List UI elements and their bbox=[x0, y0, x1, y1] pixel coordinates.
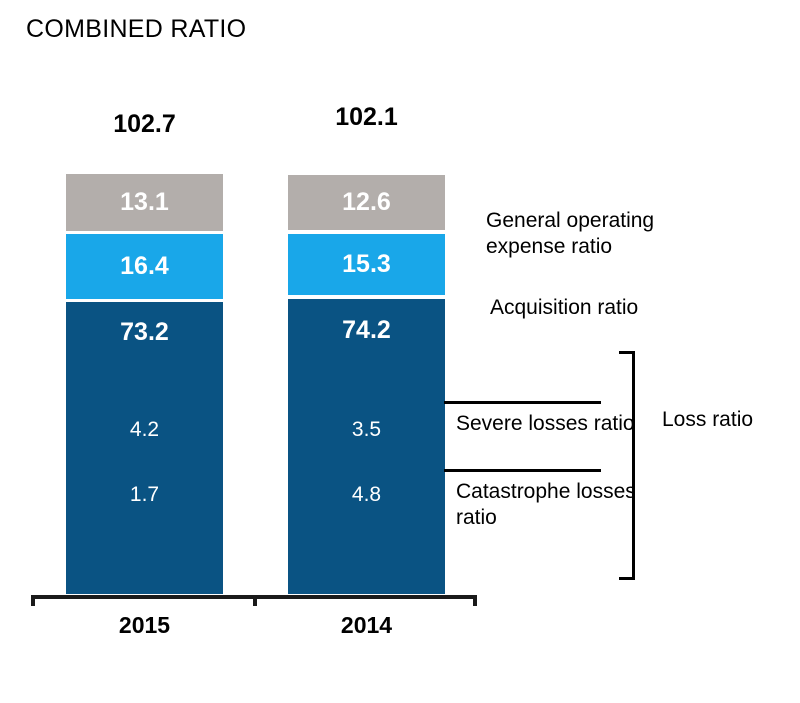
legend-label-loss-ratio: Loss ratio bbox=[662, 407, 782, 433]
page-title: COMBINED RATIO bbox=[26, 15, 246, 44]
sub-value-severe-losses-2014: 3.5 bbox=[288, 418, 445, 442]
total-label-2014: 102.1 bbox=[288, 103, 445, 132]
chart-canvas: COMBINED RATIO 102.7 102.1 13.1 16.4 73.… bbox=[0, 0, 800, 703]
axis-tick-right bbox=[473, 595, 477, 606]
loss-ratio-brace-vertical bbox=[632, 351, 635, 580]
segment-general-operating-2015[interactable]: 13.1 bbox=[66, 174, 223, 231]
legend-label-severe-losses-ratio: Severe losses ratio bbox=[456, 411, 636, 437]
segment-value-loss-2014: 74.2 bbox=[288, 316, 445, 345]
legend-label-acquisition-ratio: Acquisition ratio bbox=[490, 295, 720, 321]
legend-label-catastrophe-losses-ratio: Catastrophe losses ratio bbox=[456, 479, 636, 531]
legend-label-general-operating-expense-ratio: General operating expense ratio bbox=[486, 208, 716, 260]
leader-line-severe-losses bbox=[444, 401, 601, 404]
segment-loss-2014[interactable]: 74.2 3.5 4.8 bbox=[288, 299, 445, 594]
axis-tick-left bbox=[31, 595, 35, 606]
segment-value-loss-2015: 73.2 bbox=[66, 318, 223, 347]
total-label-2015: 102.7 bbox=[66, 110, 223, 139]
segment-value-general-operating-2015: 13.1 bbox=[66, 188, 223, 217]
segment-loss-2015[interactable]: 73.2 4.2 1.7 bbox=[66, 302, 223, 594]
x-axis-label-2015: 2015 bbox=[66, 612, 223, 639]
sub-value-catastrophe-losses-2015: 1.7 bbox=[66, 483, 223, 507]
leader-line-catastrophe-losses bbox=[444, 469, 601, 472]
loss-ratio-brace-arm-top bbox=[619, 351, 635, 354]
segment-general-operating-2014[interactable]: 12.6 bbox=[288, 175, 445, 230]
segment-value-acquisition-2015: 16.4 bbox=[66, 252, 223, 281]
segment-acquisition-2015[interactable]: 16.4 bbox=[66, 234, 223, 299]
loss-ratio-brace-arm-bottom bbox=[619, 577, 635, 580]
sub-value-catastrophe-losses-2014: 4.8 bbox=[288, 483, 445, 507]
x-axis-label-2014: 2014 bbox=[288, 612, 445, 639]
axis-tick-middle bbox=[253, 595, 257, 606]
segment-acquisition-2014[interactable]: 15.3 bbox=[288, 234, 445, 295]
segment-value-acquisition-2014: 15.3 bbox=[288, 250, 445, 279]
sub-value-severe-losses-2015: 4.2 bbox=[66, 418, 223, 442]
segment-value-general-operating-2014: 12.6 bbox=[288, 188, 445, 217]
